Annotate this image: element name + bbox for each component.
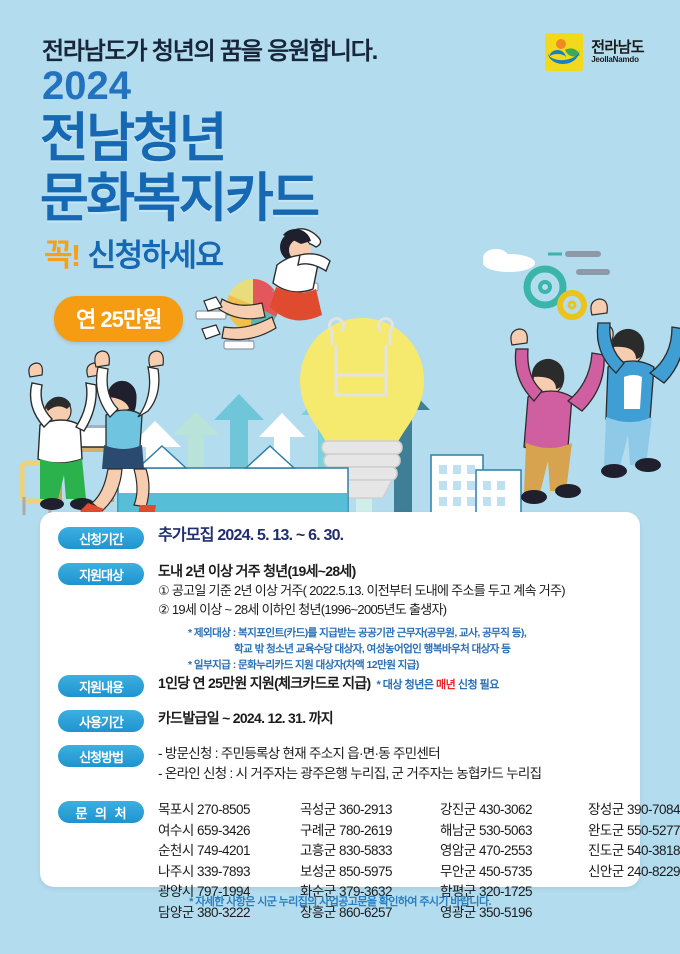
- row-label-usage-period: 사용기간: [58, 710, 144, 732]
- info-card: 신청기간 추가모집 2024. 5. 13. ~ 6. 30. 지원대상 도내 …: [40, 512, 640, 887]
- benefit-note-highlight: 매년: [436, 679, 455, 691]
- eligibility-line-1: ① 공고일 기준 2년 이상 거주( 2022.5.13. 이전부터 도내에 주…: [158, 581, 565, 601]
- eligibility-note-1: * 제외대상 : 복지포인트(카드)를 지급받는 공공기관 근무자(공무원, 교…: [158, 625, 565, 641]
- benefit-note: * 대상 청년은 매년 신청 필요: [376, 676, 498, 692]
- eligibility-heading: 도내 2년 이상 거주 청년(19세~28세): [158, 562, 565, 581]
- contact-item: 고흥군 830-5833: [300, 841, 440, 862]
- hero-illustration: [0, 225, 680, 515]
- contact-item: 보성군 850-5975: [300, 862, 440, 883]
- benefit-note-pre: * 대상 청년은: [376, 679, 436, 691]
- eligibility-note-2: 학교 밖 청소년 교육수당 대상자, 여성농어업인 행복바우처 대상자 등: [158, 641, 565, 657]
- row-label-benefit: 지원내용: [58, 675, 144, 697]
- info-row-eligibility: 지원대상 도내 2년 이상 거주 청년(19세~28세) ① 공고일 기준 2년…: [58, 562, 565, 674]
- contact-item: 구례군 780-2619: [300, 821, 440, 842]
- contact-item: 곡성군 360-2913: [300, 800, 440, 821]
- row-body-how-to-apply: - 방문신청 : 주민등록상 현재 주소지 읍·면·동 주민센터 - 온라인 신…: [158, 744, 541, 785]
- sun-icon: [556, 39, 566, 49]
- logo-name-en: JeollaNamdo: [591, 55, 644, 64]
- usage-period-value: 카드발급일 ~ 2024. 12. 31. 까지: [158, 709, 333, 728]
- info-row-benefit: 지원내용 1인당 연 25만원 지원(체크카드로 지급) * 대상 청년은 매년…: [58, 674, 499, 697]
- how-to-apply-line-1: - 방문신청 : 주민등록상 현재 주소지 읍·면·동 주민센터: [158, 744, 541, 764]
- info-row-usage-period: 사용기간 카드발급일 ~ 2024. 12. 31. 까지: [58, 709, 333, 732]
- logo-mark-icon: [545, 33, 583, 71]
- wave-icon: [548, 50, 581, 66]
- person-pink-jacket: [511, 325, 613, 504]
- contact-item: 신안군 240-8229: [588, 862, 680, 883]
- benefit-value: 1인당 연 25만원 지원(체크카드로 지급): [158, 674, 370, 693]
- row-body-usage-period: 카드발급일 ~ 2024. 12. 31. 까지: [158, 709, 333, 728]
- contact-item: 완도군 550-5277: [588, 821, 680, 842]
- page-title-line2: 문화복지카드: [40, 172, 318, 225]
- info-row-application-period: 신청기간 추가모집 2024. 5. 13. ~ 6. 30.: [58, 526, 343, 549]
- person-blue-jacket: [591, 299, 680, 478]
- contact-item: 진도군 540-3818: [588, 841, 680, 862]
- row-label-how-to-apply: 신청방법: [58, 745, 144, 767]
- row-label-application-period: 신청기간: [58, 527, 144, 549]
- row-label-eligibility: 지원대상: [58, 563, 144, 585]
- page-title-line1: 전남청년: [40, 112, 225, 165]
- how-to-apply-line-2: - 온라인 신청 : 시 거주자는 광주은행 누리집, 군 거주자는 농협카드 …: [158, 764, 541, 784]
- row-body-eligibility: 도내 2년 이상 거주 청년(19세~28세) ① 공고일 기준 2년 이상 거…: [158, 562, 565, 674]
- contact-item: 해남군 530-5063: [440, 821, 588, 842]
- eligibility-line-2: ② 19세 이상 ~ 28세 이하인 청년(1996~2005년도 출생자): [158, 600, 565, 620]
- contact-item: 강진군 430-3062: [440, 800, 588, 821]
- page-tagline: 전라남도가 청년의 꿈을 응원합니다.: [42, 31, 377, 66]
- cloud-icon: [483, 249, 535, 272]
- poster-root: 전라남도가 청년의 꿈을 응원합니다. 2024 전남청년 문화복지카드 꼭!신…: [0, 0, 680, 954]
- contact-item: 장성군 390-7084: [588, 800, 680, 821]
- contact-item: 순천시 749-4201: [158, 841, 300, 862]
- row-label-contacts: 문 의 처: [58, 801, 144, 823]
- contact-item: 영암군 470-2553: [440, 841, 588, 862]
- footnote: * 자세한 사항은 시군 누리집의 사업공고문을 확인하여 주시기 바랍니다.: [0, 893, 680, 909]
- eligibility-note-3: * 일부지급 : 문화누리카드 지원 대상자(차액 12만원 지급): [158, 657, 565, 673]
- contact-item: 무안군 450-5735: [440, 862, 588, 883]
- application-period-value: 추가모집 2024. 5. 13. ~ 6. 30.: [158, 526, 343, 546]
- row-body-benefit: 1인당 연 25만원 지원(체크카드로 지급) * 대상 청년은 매년 신청 필…: [158, 674, 499, 693]
- contact-item: 여수시 659-3426: [158, 821, 300, 842]
- contact-item: 나주시 339-7893: [158, 862, 300, 883]
- row-body-application-period: 추가모집 2024. 5. 13. ~ 6. 30.: [158, 526, 343, 546]
- contact-item: 목포시 270-8505: [158, 800, 300, 821]
- year-label: 2024: [42, 66, 131, 106]
- logo-name-kr: 전라남도: [591, 40, 644, 56]
- benefit-note-post: 신청 필요: [455, 679, 499, 691]
- logo-text: 전라남도 JeollaNamdo: [591, 40, 644, 65]
- info-row-how-to-apply: 신청방법 - 방문신청 : 주민등록상 현재 주소지 읍·면·동 주민센터 - …: [58, 744, 541, 785]
- jeollanamdo-logo: 전라남도 JeollaNamdo: [545, 33, 644, 71]
